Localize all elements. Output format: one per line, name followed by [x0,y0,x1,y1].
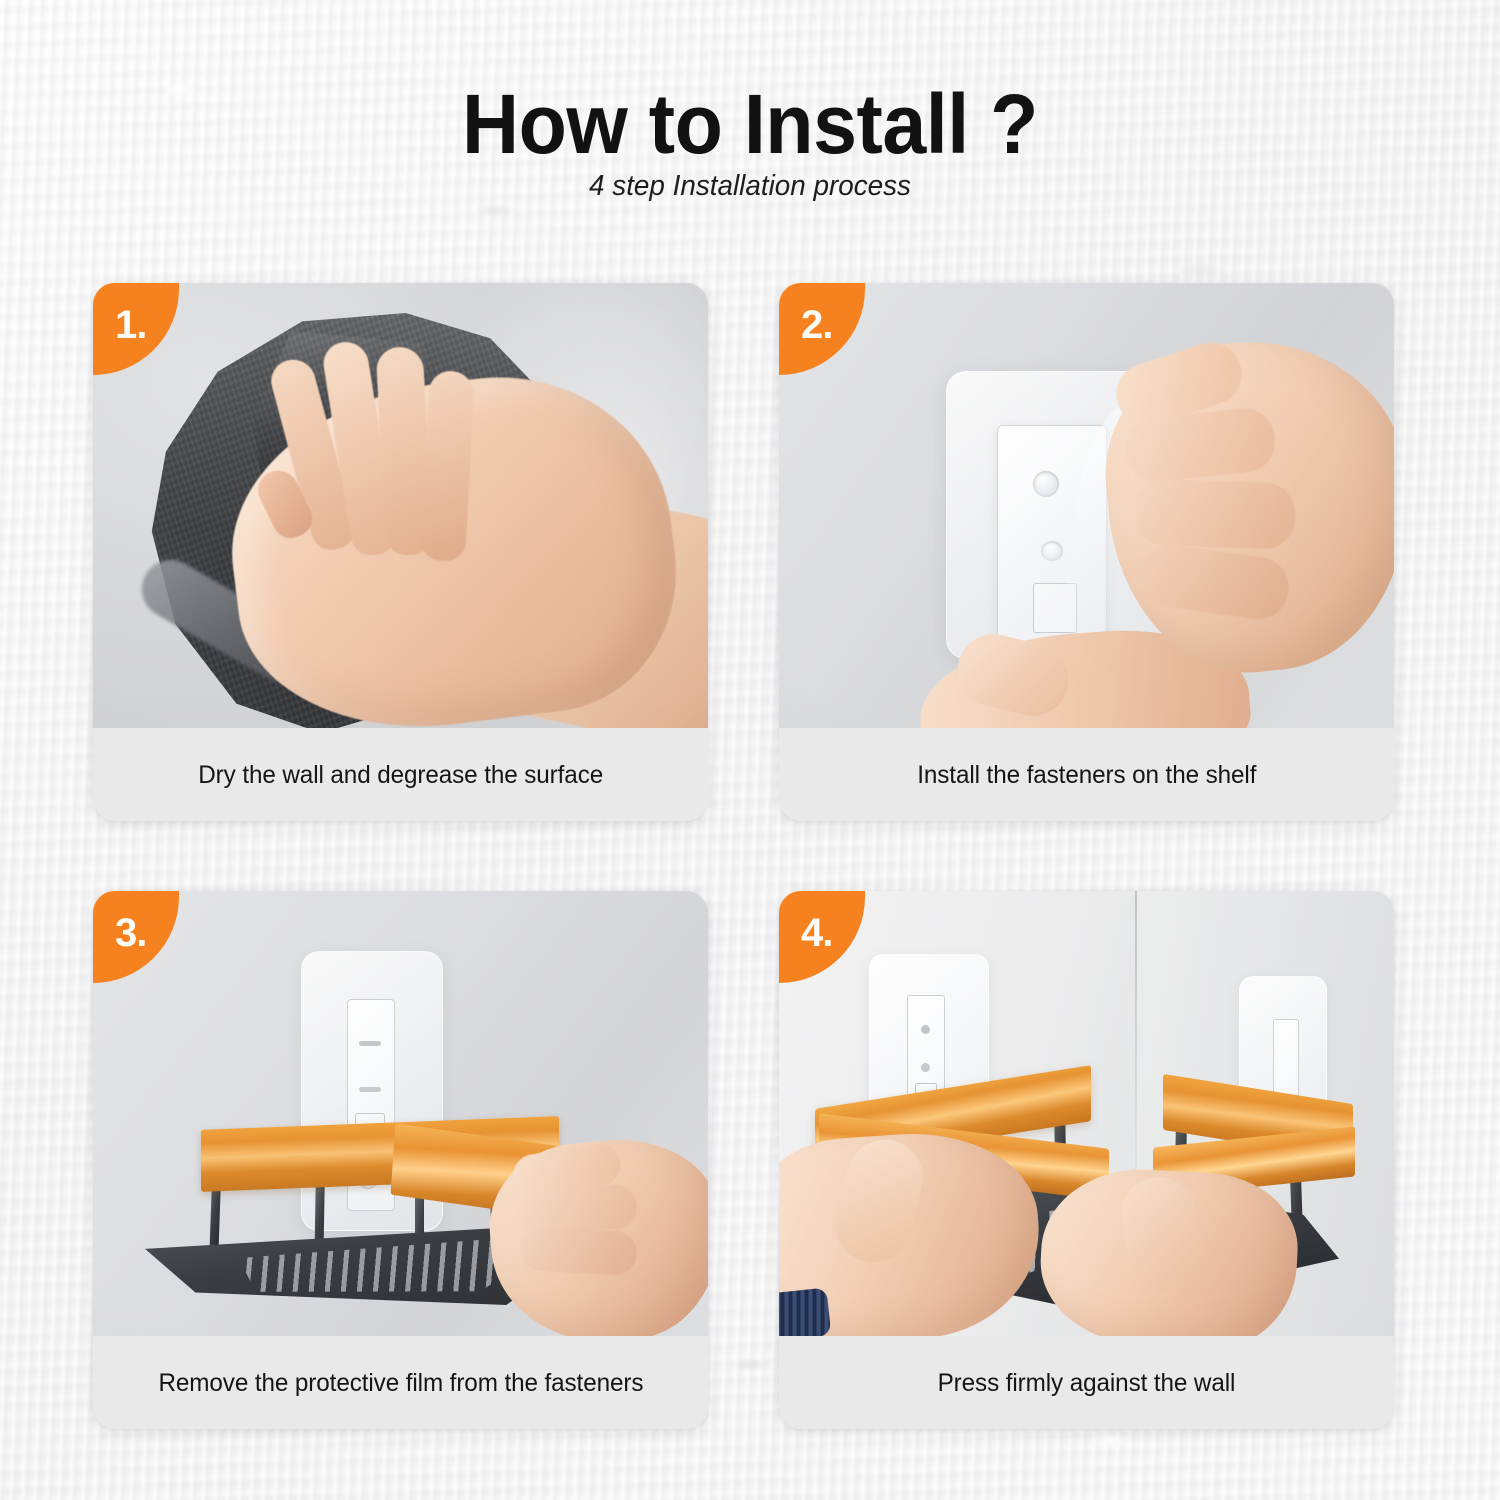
step-caption-text: Press firmly against the wall [938,1366,1236,1400]
step-4-photo [779,891,1394,1336]
fastener-hole-lower [1041,541,1063,561]
step-card-4: 4. Press firmly against the wall [779,891,1394,1429]
step-caption-4: Press firmly against the wall [779,1336,1394,1429]
fastener-hole-upper [921,1025,930,1034]
fastener-mark-lower [359,1087,381,1092]
finger-ring [518,1226,638,1276]
step-3-photo [93,891,708,1336]
finger-ring [1134,478,1296,550]
step-1-photo [93,283,708,728]
page-title: How to Install ? [45,78,1455,170]
step-number-label: 4. [801,913,832,953]
step-caption-2: Install the fasteners on the shelf [779,728,1394,821]
fastener-mark-upper [359,1041,381,1046]
step-card-2: 2. Install the fasteners on the shelf [779,283,1394,821]
step-caption-text: Dry the wall and degrease the surface [198,758,603,792]
fastener-hole-lower [921,1063,930,1072]
sleeve-cuff [779,1287,831,1336]
step-card-1: 1. Dry the wall and degrease the surface [93,283,708,821]
page-subtitle: 4 step Installation process [30,168,1470,204]
fastener-hole-upper [1033,471,1059,497]
step-number-label: 3. [115,913,146,953]
step-number-label: 1. [115,305,146,345]
step-caption-1: Dry the wall and degrease the surface [93,728,708,821]
step-caption-text: Remove the protective film from the fast… [158,1366,643,1400]
wall-corner-line [1135,891,1137,1201]
step-number-label: 2. [801,305,832,345]
how-to-install-infographic: How to Install ? 4 step Installation pro… [0,0,1500,1500]
step-caption-text: Install the fasteners on the shelf [917,758,1256,792]
step-caption-3: Remove the protective film from the fast… [93,1336,708,1429]
step-2-photo [779,283,1394,728]
step-card-3: 3. Remove the protective film from the f… [93,891,708,1429]
finger-middle [516,1184,638,1234]
